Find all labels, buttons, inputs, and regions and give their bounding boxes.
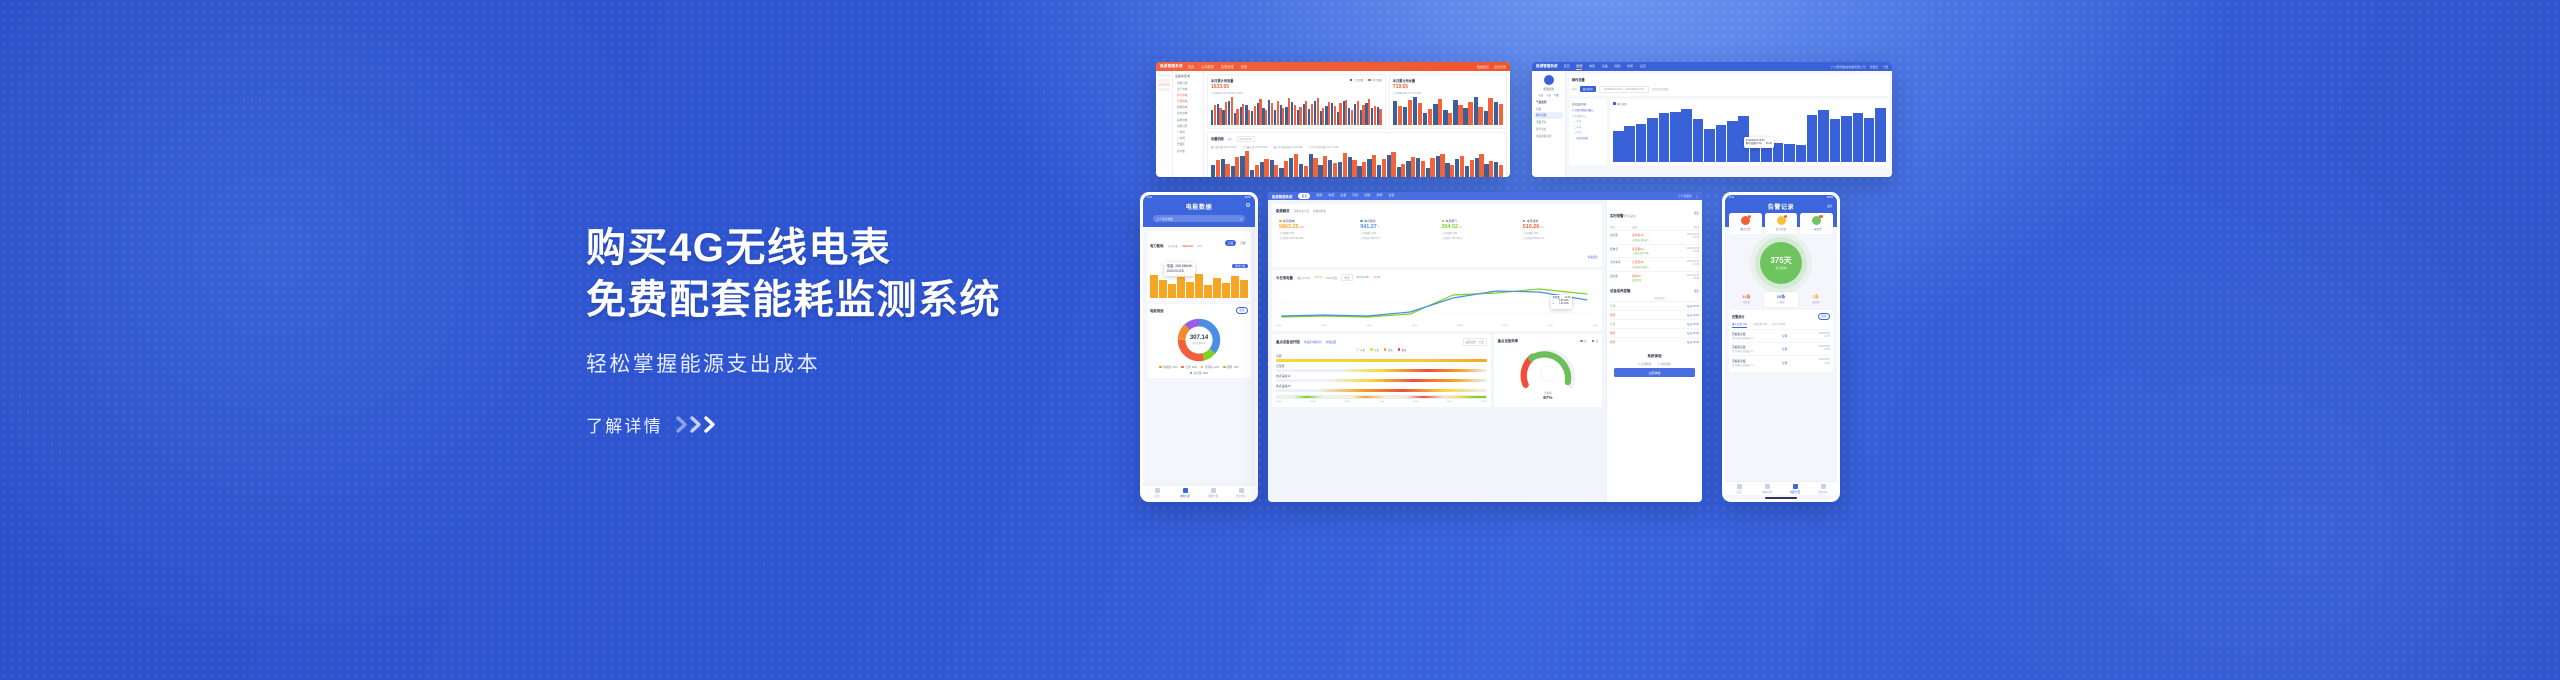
learn-more-cta[interactable]: 了解详情 bbox=[586, 412, 1226, 437]
bar bbox=[1150, 275, 1158, 297]
gauge-chart bbox=[1513, 345, 1583, 391]
bar-group bbox=[1393, 97, 1402, 125]
bar-group bbox=[1308, 97, 1313, 125]
bar-group bbox=[1257, 97, 1262, 125]
tooltip-yesterday: 7.82 kWh bbox=[1559, 303, 1569, 306]
home-icon bbox=[1737, 484, 1742, 489]
tree-item[interactable]: 其他用电 bbox=[1175, 118, 1201, 122]
side-tab[interactable]: 电量 bbox=[1538, 93, 1543, 97]
bar bbox=[1351, 110, 1353, 125]
kpi-title: 本月用气 bbox=[1442, 219, 1514, 223]
headline-line-2: 免费配套能耗监测系统 bbox=[586, 274, 1226, 326]
tree-item[interactable]: 用能分区 bbox=[1175, 124, 1201, 128]
bar bbox=[1704, 129, 1715, 161]
alarm-header: 实时预警(所有设备) 更多 bbox=[1610, 204, 1699, 222]
report-link[interactable]: 查看报告 bbox=[1588, 256, 1598, 259]
deskC-company[interactable]: 广汽菲亚特 bbox=[1678, 194, 1692, 198]
maintenance-table-head: 检查时间 bbox=[1610, 296, 1699, 300]
bar-group bbox=[1354, 97, 1359, 125]
bell-icon: 3 bbox=[1741, 216, 1750, 225]
phoneL-title: 电能数据 bbox=[1148, 202, 1250, 211]
bar-group bbox=[1864, 108, 1875, 162]
bar-group bbox=[1280, 97, 1285, 125]
row-title: 压缩机过载用于能耗过高预设20% bbox=[1732, 332, 1771, 340]
legend-item: 动力部36% bbox=[1190, 371, 1208, 375]
alarm-stats: 11条待处理 10条已处理 1条未处理 bbox=[1729, 292, 1833, 307]
deskA-nav-item[interactable]: 智慧运维 bbox=[1221, 64, 1234, 69]
deskC-nav-item[interactable]: 电费 bbox=[1328, 193, 1334, 198]
phoneR-header-action[interactable]: 设备 bbox=[1827, 204, 1832, 208]
analysis-link[interactable]: 费付分析 bbox=[1232, 264, 1248, 269]
bar bbox=[1248, 110, 1250, 125]
bar bbox=[1489, 161, 1493, 177]
chevron-group bbox=[676, 416, 717, 433]
deskC-nav-item[interactable]: 环境 bbox=[1352, 193, 1358, 198]
more-link[interactable]: 更多 bbox=[1236, 307, 1248, 315]
deskA-side-item[interactable] bbox=[1158, 79, 1170, 82]
alarm-level-label: 重大告警 bbox=[1730, 227, 1761, 231]
tree-item[interactable]: 冷却水机组 bbox=[1572, 136, 1604, 140]
bar bbox=[1294, 154, 1298, 178]
bar bbox=[1331, 103, 1333, 125]
deskB-nav-item-active[interactable]: 能源 bbox=[1576, 63, 1582, 70]
gantt-label: 重点设备2# bbox=[1276, 384, 1487, 388]
deskA-topbar: 能源管理系统 首页 公共能源 智慧运维 设置 数据报表 退出登录 bbox=[1156, 62, 1510, 71]
product-screenshot-cluster: 能源管理系统 首页 公共能源 智慧运维 设置 数据报表 退出登录 设备树/区域 … bbox=[1140, 62, 2460, 622]
bar bbox=[1475, 158, 1479, 177]
phoneL-header: 电能数据 上个月总电量 ● bbox=[1143, 200, 1255, 227]
bar bbox=[1372, 155, 1376, 177]
tooltip-date: 2022/01/15 bbox=[1167, 269, 1193, 274]
card-value: 3944.62 bbox=[1182, 244, 1193, 248]
bar-group bbox=[1397, 151, 1406, 178]
tree-item[interactable]: 办公楼 bbox=[1175, 149, 1201, 153]
alarm-device: 深水泵3#水泵低功率运行 bbox=[1632, 233, 1687, 242]
status-battery: 100% bbox=[1826, 196, 1833, 199]
gantt-axis: 00:0004:00 08:0012:00 16:0020:00 23:00 bbox=[1276, 401, 1487, 403]
tree-item[interactable]: 一车间 bbox=[1572, 119, 1604, 123]
maint-tag: 照明 bbox=[1610, 331, 1615, 335]
bar bbox=[1317, 98, 1319, 125]
bar bbox=[1231, 166, 1235, 177]
legend-item: 重载 bbox=[1398, 348, 1407, 352]
bar-group bbox=[1659, 108, 1670, 162]
tab-analysis[interactable]: 用电分析 bbox=[1753, 484, 1781, 494]
deskA-nav-item[interactable]: 设置 bbox=[1241, 64, 1247, 69]
maintenance-row[interactable]: 照明 每日 16:00 bbox=[1610, 337, 1699, 346]
deskA-logout-link[interactable]: 退出登录 bbox=[1494, 65, 1506, 69]
tree-item[interactable]: 办公用电 bbox=[1175, 93, 1201, 97]
deskB-brand: 能源管理系统 bbox=[1536, 64, 1558, 69]
kpi-sub1: 上月同期 9.6% bbox=[1279, 231, 1351, 235]
bar-group bbox=[1343, 97, 1348, 125]
bar-group bbox=[1211, 151, 1220, 178]
bell-icon: 5 bbox=[1777, 216, 1786, 225]
gantt-label: 空压机 bbox=[1276, 364, 1487, 368]
deskB-tree-title: 区域设备导航 bbox=[1572, 102, 1604, 106]
card-sub: 上月同期 5109.45 kWh 5.60% bbox=[1211, 91, 1243, 95]
kpi-card-gas: 本月用气 354.52m³ 上月同期 0.6% 上月用气 352.64 m³ bbox=[1439, 216, 1517, 243]
alarm-level-minor[interactable]: 1 一般告警 bbox=[1800, 213, 1833, 234]
deskB-nav-item[interactable]: 设备 bbox=[1602, 63, 1608, 70]
bar bbox=[1168, 284, 1176, 298]
home-icon bbox=[1155, 488, 1160, 493]
health-check-card: 系统体检 ◎ 定期检查 ◎ 清除风险 立即体检 bbox=[1610, 350, 1699, 381]
legend-item: 良 bbox=[1592, 339, 1598, 343]
side-item-active[interactable]: 瞬时流量 bbox=[1534, 112, 1563, 119]
gantt-link[interactable]: 查看更详细分析 bbox=[1304, 340, 1322, 344]
safe-days-label: 安全用电 bbox=[1775, 266, 1786, 270]
gantt-link[interactable]: 参数设置 bbox=[1326, 340, 1336, 344]
tooltip-series: 瞬时流量(m³/h) bbox=[1746, 142, 1762, 145]
bar bbox=[1458, 105, 1462, 124]
deskC-efficiency-section: 重点设备效率 优 良 合格率 bbox=[1494, 334, 1602, 407]
alarm-level-label: 较大告警 bbox=[1766, 227, 1797, 231]
legend-item: 优 bbox=[1580, 339, 1586, 343]
bar-group bbox=[1268, 97, 1273, 125]
alarm-table-head: 区域 设备 时间 bbox=[1610, 225, 1699, 229]
alarm-list-more[interactable]: 更多 bbox=[1818, 313, 1830, 321]
search-input[interactable]: 上个月总电量 ● bbox=[1153, 215, 1245, 222]
bar-group bbox=[1371, 97, 1376, 125]
card-value: 1633.65 bbox=[1211, 84, 1243, 90]
tree-item[interactable]: 三车间 bbox=[1572, 130, 1604, 134]
bar bbox=[1240, 280, 1248, 297]
bar bbox=[1338, 162, 1342, 177]
toolbar-range[interactable]: 2019/06/01 00:00 ~ 2019/06/01 23:45 bbox=[1599, 86, 1649, 93]
gantt-timeline bbox=[1276, 395, 1487, 399]
screenshot-desktop-energy-orange: 能源管理系统 首页 公共能源 智慧运维 设置 数据报表 退出登录 设备树/区域 … bbox=[1156, 62, 1510, 177]
bar bbox=[1328, 160, 1332, 177]
row-title: 压缩机过载用于能耗过高预设20% bbox=[1732, 359, 1771, 367]
search-placeholder: 上个月总电量 bbox=[1156, 217, 1173, 221]
tab-enterprise[interactable]: 企业中心 bbox=[1809, 484, 1837, 494]
toolbar-compare[interactable]: 对比历史时间段 bbox=[1652, 87, 1669, 91]
deskA-body: 设备树/区域 用能分类 生产用电 办公用电 空调用电 照明用电 动力用电 其他用… bbox=[1156, 71, 1510, 177]
bar-group bbox=[1357, 151, 1366, 178]
bar-group bbox=[1270, 151, 1279, 178]
toolbar-preset[interactable]: 按日查询 bbox=[1580, 86, 1596, 92]
side-item[interactable]: 时段流量对比 bbox=[1534, 132, 1563, 139]
deskB-nav-item[interactable]: 效率 bbox=[1627, 63, 1633, 70]
deskB-nav-item[interactable]: 设置 bbox=[1640, 63, 1646, 70]
maint-tag: 照明 bbox=[1610, 313, 1615, 317]
alarm-row[interactable]: 动力部 锅炉1#温度异常 2021/03/1508:36 bbox=[1610, 271, 1699, 285]
bar bbox=[1264, 159, 1268, 177]
health-check-button[interactable]: 立即体检 bbox=[1614, 368, 1695, 377]
deskC-nav-item-active[interactable]: 首页 bbox=[1298, 193, 1310, 198]
health-item: ◎ 清除风险 bbox=[1658, 362, 1671, 366]
stat-unhandled[interactable]: 1条未处理 bbox=[1798, 292, 1833, 307]
deskB-nav-item[interactable]: 首页 bbox=[1564, 63, 1570, 70]
alarm-device: 锅炉1#温度异常 bbox=[1632, 274, 1687, 283]
bar bbox=[1362, 105, 1364, 124]
chart-pie-icon bbox=[1765, 484, 1770, 489]
gantt-legend: 关机 空载 轻载 重载 bbox=[1276, 348, 1487, 352]
deskC-nav-item[interactable]: 控制 bbox=[1364, 193, 1370, 198]
banner-subline: 轻松掌握能源支出成本 bbox=[586, 348, 1226, 378]
kpi-value: 5863.25kWh bbox=[1279, 224, 1351, 230]
tree-item[interactable]: 汽车制造中心 bbox=[1572, 114, 1604, 118]
alarm-zone: 配电室 bbox=[1610, 247, 1632, 251]
alarm-level-major[interactable]: 3 重大告警 bbox=[1729, 213, 1762, 234]
maintenance-row[interactable]: 照明 每日 10:00 bbox=[1610, 310, 1699, 319]
bar-group bbox=[1240, 151, 1249, 178]
bar-group bbox=[1309, 151, 1318, 178]
deskA-nav-item[interactable]: 公共能源 bbox=[1201, 64, 1214, 69]
kpi-sub1: 上月同期 0.6% bbox=[1442, 231, 1514, 235]
bar-group bbox=[1693, 108, 1704, 162]
deskC-nav-item[interactable]: 设置 bbox=[1388, 193, 1394, 198]
legend-item: 引风机12% bbox=[1201, 365, 1219, 369]
maintenance-title: 设备保养提醒 bbox=[1610, 288, 1630, 293]
alarm-row[interactable]: 冷冻车间 空压机3#水泵低功率运行 2021/03/1510:05 bbox=[1610, 257, 1699, 271]
bar bbox=[1443, 110, 1447, 125]
tab-monthly[interactable]: 月报 bbox=[1238, 240, 1248, 246]
deskC-nav-item[interactable]: 效率 bbox=[1376, 193, 1382, 198]
card-date[interactable]: 2021-03-01 bbox=[1237, 136, 1255, 142]
kpi-value: 510.26GJ bbox=[1523, 224, 1595, 230]
bar-group bbox=[1320, 97, 1325, 125]
bar-group bbox=[1240, 97, 1245, 125]
list-tab-minor[interactable]: 一般告警 (10) bbox=[1752, 322, 1767, 328]
stat-handled[interactable]: 10条已处理 bbox=[1764, 292, 1799, 307]
bar bbox=[1352, 160, 1356, 177]
today-compare: 98.25 kWh bbox=[1357, 276, 1369, 279]
chart-pie-icon bbox=[1183, 488, 1188, 493]
tree-item[interactable]: 空调用电 bbox=[1175, 99, 1201, 103]
deskB-unit[interactable]: 气量 bbox=[1882, 65, 1888, 69]
chart-tooltip: 电量: 268.56kWh 2022/01/15 bbox=[1164, 262, 1196, 277]
cta-label: 了解详情 bbox=[586, 412, 663, 437]
maintenance-row[interactable]: 空调 每日 09:00 bbox=[1610, 301, 1699, 310]
bar bbox=[1499, 104, 1503, 124]
gear-icon[interactable] bbox=[1246, 203, 1250, 207]
tree-item[interactable]: 动力用电 bbox=[1175, 111, 1201, 115]
deskB-user[interactable]: 管理员 bbox=[1870, 65, 1879, 69]
tree-item[interactable]: 二车间 bbox=[1175, 136, 1201, 140]
bar bbox=[1357, 166, 1361, 177]
bar-group bbox=[1818, 108, 1829, 162]
bar-group bbox=[1613, 108, 1624, 162]
stat-pending[interactable]: 11条待处理 bbox=[1729, 292, 1764, 307]
bar-group bbox=[1670, 108, 1681, 162]
health-title: 系统体检 bbox=[1614, 354, 1695, 359]
gantt-row: 重点设备2# bbox=[1276, 384, 1487, 392]
bar bbox=[1221, 159, 1225, 177]
side-tab[interactable]: 水量 bbox=[1546, 93, 1551, 97]
bar bbox=[1460, 156, 1464, 177]
side-item[interactable]: 用量 bbox=[1534, 105, 1563, 112]
deskA-side-item[interactable] bbox=[1158, 88, 1170, 91]
bar-group bbox=[1841, 108, 1852, 162]
side-tab-active[interactable]: 气量 bbox=[1554, 93, 1559, 97]
deskC-nav-item[interactable]: 设备 bbox=[1340, 193, 1346, 198]
tree-item[interactable]: 二车间 bbox=[1572, 125, 1604, 129]
alarm-list-row[interactable]: 压缩机过载用于能耗过高预设20% 空调 2018/08/1112:56 bbox=[1732, 342, 1830, 355]
list-tab-all[interactable]: 综合 (1000) bbox=[1772, 322, 1785, 328]
bar bbox=[1222, 283, 1230, 298]
bar bbox=[1259, 99, 1261, 124]
bar bbox=[1428, 109, 1432, 125]
card-value: 719.65 bbox=[1393, 84, 1503, 90]
tab-analysis[interactable]: 用电分析 bbox=[1171, 488, 1199, 498]
tab-alarm[interactable]: 用能告警 bbox=[1199, 488, 1227, 498]
bar bbox=[1401, 164, 1405, 177]
side-item[interactable]: 累计对比 bbox=[1534, 126, 1563, 133]
maintenance-row[interactable]: 照明 每日 15:00 bbox=[1610, 328, 1699, 337]
alarm-level-label: 一般告警 bbox=[1801, 227, 1832, 231]
bar bbox=[1357, 101, 1359, 124]
tree-item[interactable]: 生产用电 bbox=[1175, 87, 1201, 91]
deskB-sidebar: 能源监测 电量 水量 气量 气量监测 用量 瞬时流量 流量开关 累计对比 时段流… bbox=[1532, 71, 1566, 177]
safe-days-circle: 375天 安全用电 bbox=[1760, 242, 1802, 284]
bar bbox=[1659, 113, 1670, 161]
bar-group bbox=[1274, 97, 1279, 125]
health-items: ◎ 定期检查 ◎ 清除风险 bbox=[1614, 362, 1695, 366]
bell-icon[interactable]: △ bbox=[1696, 194, 1698, 198]
bar bbox=[1830, 119, 1841, 161]
bar bbox=[1348, 157, 1352, 177]
legend-item: 轻载 bbox=[1384, 348, 1393, 352]
microphone-icon[interactable]: ● bbox=[1240, 217, 1242, 221]
bar-group bbox=[1807, 108, 1818, 162]
bar bbox=[1403, 107, 1407, 125]
status-battery: 100% bbox=[1244, 196, 1251, 199]
deskA-report-link[interactable]: 数据报表 bbox=[1477, 65, 1489, 69]
bar bbox=[1416, 158, 1420, 177]
tree-item[interactable]: 一车间 bbox=[1175, 130, 1201, 134]
bar bbox=[1235, 157, 1239, 177]
bar-group bbox=[1377, 151, 1386, 178]
deskB-nav-item[interactable]: 电费 bbox=[1589, 63, 1595, 70]
list-tab-major[interactable]: 重大告警 (10) bbox=[1732, 322, 1747, 328]
bar bbox=[1796, 145, 1807, 161]
bar bbox=[1236, 109, 1238, 125]
phoneL-screen: 9:41 100% 电能数据 上个月总电量 ● 电力能耗 总用电量 bbox=[1143, 195, 1255, 499]
bar bbox=[1418, 103, 1422, 124]
bar-group bbox=[1796, 108, 1807, 162]
maintenance-more-link[interactable]: 更多 bbox=[1694, 289, 1699, 293]
bar bbox=[1265, 110, 1267, 124]
donut-chart: 307.14 月总电量/kWh bbox=[1176, 317, 1222, 363]
bar bbox=[1488, 98, 1492, 124]
deskC-sidepanel: 实时预警(所有设备) 更多 区域 设备 时间 动力部 深水泵3#水泵低功率运行 … bbox=[1606, 200, 1702, 502]
alarm-row[interactable]: 配电室 变压器H1三相电流不平衡 2021/03/1510:39 bbox=[1610, 244, 1699, 258]
chevron-right-icon bbox=[690, 416, 703, 433]
screenshot-desktop-energy-blue: 能源管理系统 首页 能源 电费 设备 控制 效率 设置 广州现代精益电器有限公司… bbox=[1532, 62, 1892, 177]
legend-item: 瞬时流量 bbox=[1613, 102, 1627, 106]
alarm-zone: 冷冻车间 bbox=[1610, 260, 1632, 264]
gantt-select[interactable]: 设备选择：全选 bbox=[1463, 338, 1487, 345]
side-item[interactable]: 流量开关 bbox=[1534, 119, 1563, 126]
bar bbox=[1311, 104, 1313, 125]
tab-enterprise[interactable]: 企业中心 bbox=[1227, 488, 1255, 498]
status-time: 9:41 bbox=[1729, 196, 1734, 199]
bar-group bbox=[1213, 274, 1221, 298]
bar bbox=[1328, 102, 1330, 124]
bar-group bbox=[1338, 151, 1347, 178]
row-device: 空调 bbox=[1771, 347, 1799, 351]
alarm-row[interactable]: 动力部 深水泵3#水泵低功率运行 2021/03/1512:35 bbox=[1610, 230, 1699, 244]
bar bbox=[1251, 111, 1253, 124]
alarm-list-row[interactable]: 压缩机过载用于能耗过高预设20% 空调 2018/08/1112:56 bbox=[1732, 355, 1830, 368]
tab-home[interactable]: 首页 bbox=[1143, 488, 1171, 498]
tree-item[interactable]: 仓储区 bbox=[1175, 142, 1201, 146]
deskA-main: 本月累计用电量 1633.65 上月同期 5109.45 kWh 5.60% 上… bbox=[1204, 71, 1510, 177]
bar-group bbox=[1445, 151, 1454, 178]
bar-group bbox=[1647, 108, 1658, 162]
bar bbox=[1382, 159, 1386, 177]
bar-group bbox=[1433, 97, 1442, 125]
alarm-more-link[interactable]: 更多 bbox=[1694, 211, 1699, 215]
bar bbox=[1613, 131, 1624, 162]
bar-group bbox=[1436, 151, 1445, 178]
bar bbox=[1436, 156, 1440, 177]
tree-root[interactable]: 广州现代精益电器公... bbox=[1572, 108, 1604, 112]
legend-item: 空载 bbox=[1370, 348, 1379, 352]
bar bbox=[1186, 282, 1194, 298]
section-title: 能源概览 bbox=[1276, 208, 1290, 213]
card-title: 电能用途 bbox=[1150, 308, 1164, 313]
card-title: 用量明细 bbox=[1211, 136, 1224, 141]
bar bbox=[1299, 164, 1303, 177]
overview-header: 能源概览 新增仪表介绍 系统说明书 bbox=[1276, 208, 1598, 213]
alarm-level-medium[interactable]: 5 较大告警 bbox=[1765, 213, 1798, 234]
deskA-side-item-active[interactable] bbox=[1158, 83, 1170, 86]
bar bbox=[1214, 105, 1216, 124]
deskA-device-tree: 设备树/区域 用能分类 生产用电 办公用电 空调用电 照明用电 动力用电 其他用… bbox=[1173, 71, 1204, 177]
bar-group bbox=[1484, 151, 1493, 178]
deskA-side-item[interactable] bbox=[1158, 74, 1170, 77]
deskB-side-tabs: 电量 水量 气量 bbox=[1534, 93, 1563, 97]
tree-item[interactable]: 用能分类 bbox=[1175, 81, 1201, 85]
bar bbox=[1313, 158, 1317, 177]
bar bbox=[1216, 160, 1220, 177]
bar-group bbox=[1260, 151, 1269, 178]
bar-group bbox=[1291, 97, 1296, 125]
overview-link[interactable]: 新增仪表介绍 bbox=[1294, 209, 1310, 213]
overview-link[interactable]: 系统说明书 bbox=[1313, 209, 1326, 213]
deskA-chart-electricity bbox=[1211, 95, 1382, 125]
maintenance-row[interactable]: 空调 每日 09:00 bbox=[1610, 319, 1699, 328]
kpi-title: 本月用电 bbox=[1279, 219, 1351, 223]
deskB-nav-item[interactable]: 控制 bbox=[1614, 63, 1620, 70]
kpi-sub1: 上月同期 1.6% bbox=[1360, 231, 1432, 235]
tree-item[interactable]: 照明用电 bbox=[1175, 105, 1201, 109]
bar-group bbox=[1463, 97, 1472, 125]
card-filter[interactable]: 按月 bbox=[1228, 137, 1233, 141]
deskC-nav-item[interactable]: 能源 bbox=[1316, 193, 1322, 198]
phoneL-consumption-card: 电力能耗 总用电量 3944.62 kWh 日报 月报 费付分析 bbox=[1147, 231, 1251, 301]
efficiency-legend: 优 良 bbox=[1580, 339, 1598, 343]
detail-stat: 最大值用量 901.37 kWh bbox=[1211, 145, 1236, 149]
tab-home[interactable]: 首页 bbox=[1725, 484, 1753, 494]
tab-alarm[interactable]: 用能告警 bbox=[1781, 484, 1809, 494]
deskC-topbar: 能源管理系统 首页 能源 电费 设备 环境 控制 效率 设置 广汽菲亚特 △ bbox=[1268, 192, 1702, 200]
deskA-nav-item[interactable]: 首页 bbox=[1188, 64, 1194, 69]
card-unit: kWh bbox=[1197, 245, 1202, 248]
deskC-topbar-right: 广汽菲亚特 △ bbox=[1678, 194, 1698, 198]
tab-daily[interactable]: 日报 bbox=[1225, 240, 1235, 246]
bar-group bbox=[1406, 151, 1415, 178]
maint-tag: 空调 bbox=[1610, 304, 1615, 308]
bar-group bbox=[1195, 274, 1203, 298]
alarm-list-row[interactable]: 压缩机过载用于能耗过高预设20% 空调 2018/08/1112:56 bbox=[1732, 329, 1830, 342]
today-select[interactable]: 昨天 bbox=[1341, 274, 1352, 281]
bar-group bbox=[1240, 274, 1248, 298]
donut-legend: 传感器13% 空调29% 引风机12% 照明10% 动力部36% bbox=[1150, 365, 1248, 375]
